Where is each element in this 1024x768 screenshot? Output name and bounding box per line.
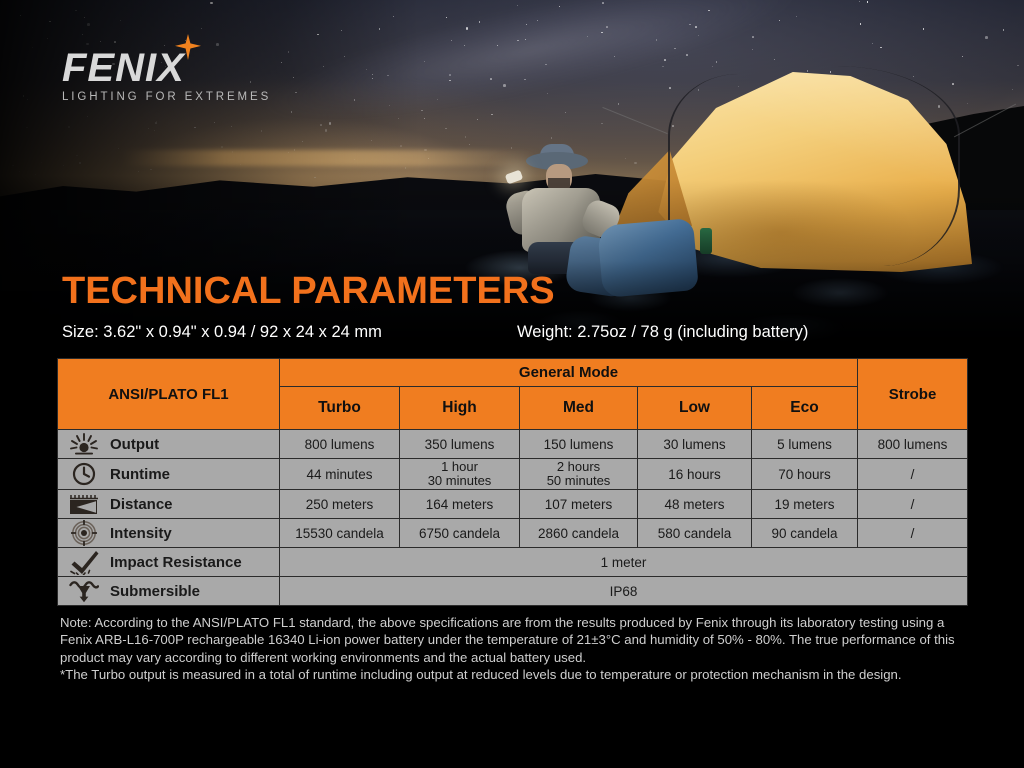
cell-low: 16 hours — [638, 459, 752, 490]
cell-turbo: 44 minutes — [280, 459, 400, 490]
footnote: Note: According to the ANSI/PLATO FL1 st… — [60, 614, 972, 684]
impact-icon — [58, 549, 110, 575]
target-icon — [58, 520, 110, 546]
row-merged-value: IP68 — [280, 577, 968, 606]
beam-distance-icon — [58, 492, 110, 516]
footnote-line-1: Note: According to the ANSI/PLATO FL1 st… — [60, 614, 972, 666]
row-label-cell: Distance — [58, 490, 280, 519]
table-row: Intensity15530 candela6750 candela2860 c… — [58, 519, 968, 548]
weight-text: Weight: 2.75oz / 78 g (including battery… — [517, 323, 808, 342]
header-mode-high: High — [400, 387, 520, 430]
table-row: Distance250 meters164 meters107 meters48… — [58, 490, 968, 519]
row-label-cell: Submersible — [58, 577, 280, 606]
cell-turbo: 800 lumens — [280, 430, 400, 459]
technical-parameters-table: ANSI/PLATO FL1 General Mode Strobe Turbo… — [57, 358, 967, 606]
product-spec-page: FENIX LIGHTING FOR EXTREMES TECHNICAL PA… — [0, 0, 1024, 768]
sunburst-icon — [58, 432, 110, 456]
header-strobe: Strobe — [858, 359, 968, 430]
cell-med: 2 hours50 minutes — [520, 459, 638, 490]
row-label-cell: Output — [58, 430, 280, 459]
header-mode-low: Low — [638, 387, 752, 430]
header-general-mode: General Mode — [280, 359, 858, 387]
cell-strobe: / — [858, 459, 968, 490]
fenix-logo: FENIX LIGHTING FOR EXTREMES — [62, 48, 271, 103]
cell-turbo: 250 meters — [280, 490, 400, 519]
cell-high: 164 meters — [400, 490, 520, 519]
cell-strobe: / — [858, 490, 968, 519]
row-label-cell: Runtime — [58, 459, 280, 490]
cell-eco: 19 meters — [752, 490, 858, 519]
row-label-text: Output — [110, 436, 159, 453]
cell-eco: 70 hours — [752, 459, 858, 490]
cell-med: 107 meters — [520, 490, 638, 519]
header-standard: ANSI/PLATO FL1 — [58, 359, 280, 430]
cell-strobe: / — [858, 519, 968, 548]
spec-table: ANSI/PLATO FL1 General Mode Strobe Turbo… — [57, 358, 968, 606]
cell-low: 580 candela — [638, 519, 752, 548]
spec-summary: Size: 3.62" x 0.94" x 0.94 / 92 x 24 x 2… — [62, 323, 962, 347]
logo-wordmark: FENIX — [62, 48, 271, 88]
cell-eco: 90 candela — [752, 519, 858, 548]
cell-strobe: 800 lumens — [858, 430, 968, 459]
row-label-cell: Impact Resistance — [58, 548, 280, 577]
row-label-cell: Intensity — [58, 519, 280, 548]
table-row: SubmersibleIP68 — [58, 577, 968, 606]
clock-icon — [58, 462, 110, 486]
cell-med: 150 lumens — [520, 430, 638, 459]
cell-high: 350 lumens — [400, 430, 520, 459]
cell-eco: 5 lumens — [752, 430, 858, 459]
cell-low: 48 meters — [638, 490, 752, 519]
header-row-top: ANSI/PLATO FL1 General Mode Strobe — [58, 359, 968, 387]
cell-high: 1 hour30 minutes — [400, 459, 520, 490]
cell-turbo: 15530 candela — [280, 519, 400, 548]
cell-high: 6750 candela — [400, 519, 520, 548]
logo-tagline: LIGHTING FOR EXTREMES — [62, 91, 271, 103]
cell-low: 30 lumens — [638, 430, 752, 459]
row-label-text: Runtime — [110, 466, 170, 483]
header-mode-turbo: Turbo — [280, 387, 400, 430]
footnote-line-2: *The Turbo output is measured in a total… — [60, 666, 972, 683]
row-label-text: Distance — [110, 496, 173, 513]
table-head: ANSI/PLATO FL1 General Mode Strobe Turbo… — [58, 359, 968, 430]
table-body: Output800 lumens350 lumens150 lumens30 l… — [58, 430, 968, 606]
table-row: Output800 lumens350 lumens150 lumens30 l… — [58, 430, 968, 459]
row-merged-value: 1 meter — [280, 548, 968, 577]
row-label-text: Impact Resistance — [110, 554, 242, 571]
header-mode-eco: Eco — [752, 387, 858, 430]
submersible-icon — [58, 579, 110, 603]
table-row: Impact Resistance1 meter — [58, 548, 968, 577]
row-label-text: Intensity — [110, 525, 172, 542]
row-label-text: Submersible — [110, 583, 200, 600]
header-mode-med: Med — [520, 387, 638, 430]
star-icon — [175, 34, 201, 60]
size-text: Size: 3.62" x 0.94" x 0.94 / 92 x 24 x 2… — [62, 323, 382, 342]
cell-med: 2860 candela — [520, 519, 638, 548]
table-row: Runtime44 minutes1 hour30 minutes2 hours… — [58, 459, 968, 490]
page-title: TECHNICAL PARAMETERS — [62, 272, 555, 310]
